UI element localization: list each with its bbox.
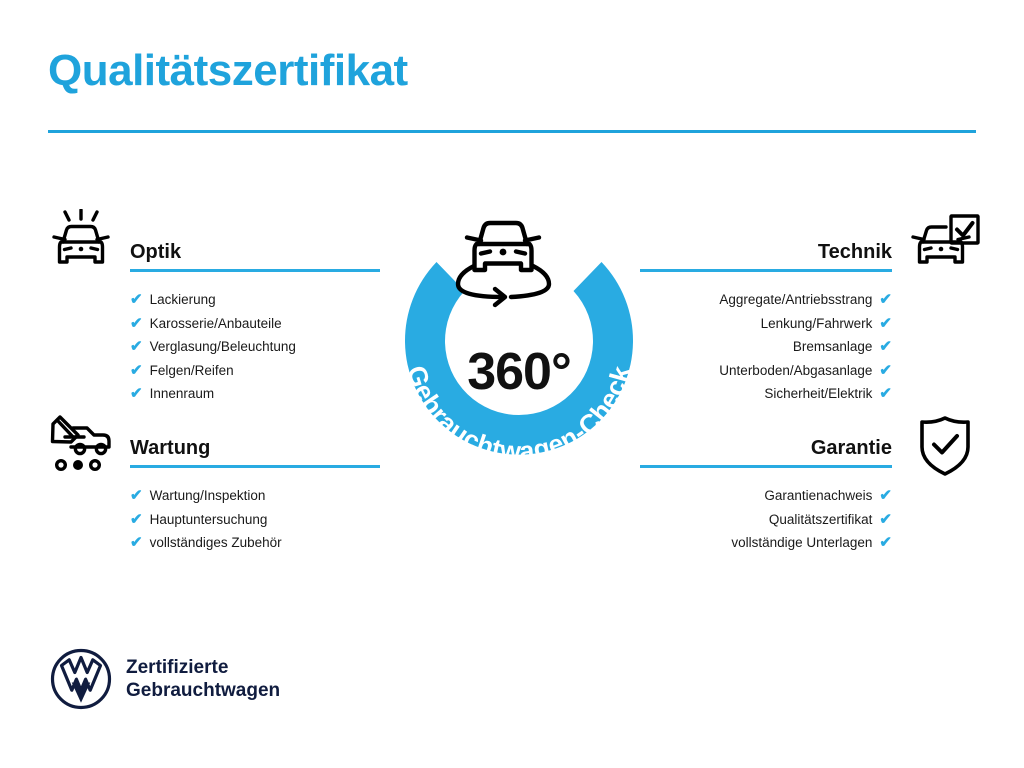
section-divider-optik	[130, 269, 380, 272]
list-item: Aggregate/Antriebsstrang✔	[640, 288, 892, 312]
section-optik: Optik ✔Lackierung ✔Karosserie/Anbauteile…	[130, 238, 380, 406]
list-item-label: Hauptuntersuchung	[150, 508, 268, 532]
shield-check-icon	[917, 415, 973, 477]
list-item-label: Felgen/Reifen	[150, 359, 234, 383]
list-item-label: Verglasung/Beleuchtung	[150, 335, 296, 359]
list-item: ✔Lackierung	[130, 288, 380, 312]
vw-logo	[50, 648, 112, 710]
title-divider	[48, 130, 976, 133]
section-list-garantie: Garantienachweis✔ Qualitätszertifikat✔ v…	[640, 484, 892, 555]
section-title-garantie: Garantie	[640, 434, 892, 462]
check-icon: ✔	[879, 335, 892, 359]
check-icon: ✔	[130, 508, 143, 532]
list-item: ✔Felgen/Reifen	[130, 359, 380, 383]
list-item: vollständige Unterlagen✔	[640, 531, 892, 555]
check-icon: ✔	[879, 484, 892, 508]
check-icon: ✔	[130, 484, 143, 508]
list-item: ✔Verglasung/Beleuchtung	[130, 335, 380, 359]
check-icon: ✔	[879, 382, 892, 406]
list-item: Lenkung/Fahrwerk✔	[640, 312, 892, 336]
check-icon: ✔	[879, 312, 892, 336]
check-icon: ✔	[130, 312, 143, 336]
page-title: Qualitätszertifikat	[48, 46, 408, 97]
car-shine-icon	[47, 209, 115, 273]
list-item-label: Bremsanlage	[793, 335, 873, 359]
list-item-label: Sicherheit/Elektrik	[764, 382, 872, 406]
list-item-label: Qualitätszertifikat	[769, 508, 873, 532]
list-item-label: Innenraum	[150, 382, 215, 406]
list-item: Sicherheit/Elektrik✔	[640, 382, 892, 406]
section-garantie: Garantie Garantienachweis✔ Qualitätszert…	[640, 434, 892, 555]
list-item: ✔Karosserie/Anbauteile	[130, 312, 380, 336]
list-item: Bremsanlage✔	[640, 335, 892, 359]
section-technik: Technik Aggregate/Antriebsstrang✔ Lenkun…	[640, 238, 892, 406]
check-icon: ✔	[879, 359, 892, 383]
list-item-label: Garantienachweis	[764, 484, 872, 508]
list-item: ✔Innenraum	[130, 382, 380, 406]
list-item: Garantienachweis✔	[640, 484, 892, 508]
list-item-label: Wartung/Inspektion	[150, 484, 266, 508]
footer-logo-group: Zertifizierte Gebrauchtwagen	[50, 648, 280, 710]
footer-line-1: Zertifizierte	[126, 656, 280, 679]
section-divider-garantie	[640, 465, 892, 468]
section-list-optik: ✔Lackierung ✔Karosserie/Anbauteile ✔Verg…	[130, 288, 380, 406]
check-icon: ✔	[879, 508, 892, 532]
certificate-page: Qualitätszertifikat	[0, 0, 1024, 768]
section-divider-technik	[640, 269, 892, 272]
check-icon: ✔	[879, 288, 892, 312]
list-item-label: Aggregate/Antriebsstrang	[719, 288, 872, 312]
list-item: ✔Hauptuntersuchung	[130, 508, 380, 532]
list-item: Unterboden/Abgasanlage✔	[640, 359, 892, 383]
list-item: ✔Wartung/Inspektion	[130, 484, 380, 508]
list-item: ✔vollständiges Zubehör	[130, 531, 380, 555]
list-item-label: vollständige Unterlagen	[731, 531, 872, 555]
check-icon: ✔	[130, 531, 143, 555]
list-item-label: vollständiges Zubehör	[150, 531, 282, 555]
footer-line-2: Gebrauchtwagen	[126, 679, 280, 702]
car-pen-service-icon	[47, 414, 115, 474]
section-list-wartung: ✔Wartung/Inspektion ✔Hauptuntersuchung ✔…	[130, 484, 380, 555]
check-icon: ✔	[130, 335, 143, 359]
footer-text: Zertifizierte Gebrauchtwagen	[126, 656, 280, 702]
car-checkbox-icon	[909, 214, 981, 272]
badge-number: 360°	[374, 346, 664, 398]
list-item-label: Lenkung/Fahrwerk	[761, 312, 873, 336]
360-check-badge: Gebrauchtwagen-Check 360°	[374, 196, 664, 486]
list-item-label: Unterboden/Abgasanlage	[719, 359, 872, 383]
section-title-wartung: Wartung	[130, 434, 380, 462]
list-item-label: Karosserie/Anbauteile	[150, 312, 282, 336]
section-title-technik: Technik	[640, 238, 892, 266]
check-icon: ✔	[130, 359, 143, 383]
car-rotation-icon	[458, 223, 549, 305]
section-wartung: Wartung ✔Wartung/Inspektion ✔Hauptunters…	[130, 434, 380, 555]
check-icon: ✔	[130, 382, 143, 406]
list-item: Qualitätszertifikat✔	[640, 508, 892, 532]
section-title-optik: Optik	[130, 238, 380, 266]
list-item-label: Lackierung	[150, 288, 216, 312]
check-icon: ✔	[130, 288, 143, 312]
section-list-technik: Aggregate/Antriebsstrang✔ Lenkung/Fahrwe…	[640, 288, 892, 406]
section-divider-wartung	[130, 465, 380, 468]
check-icon: ✔	[879, 531, 892, 555]
